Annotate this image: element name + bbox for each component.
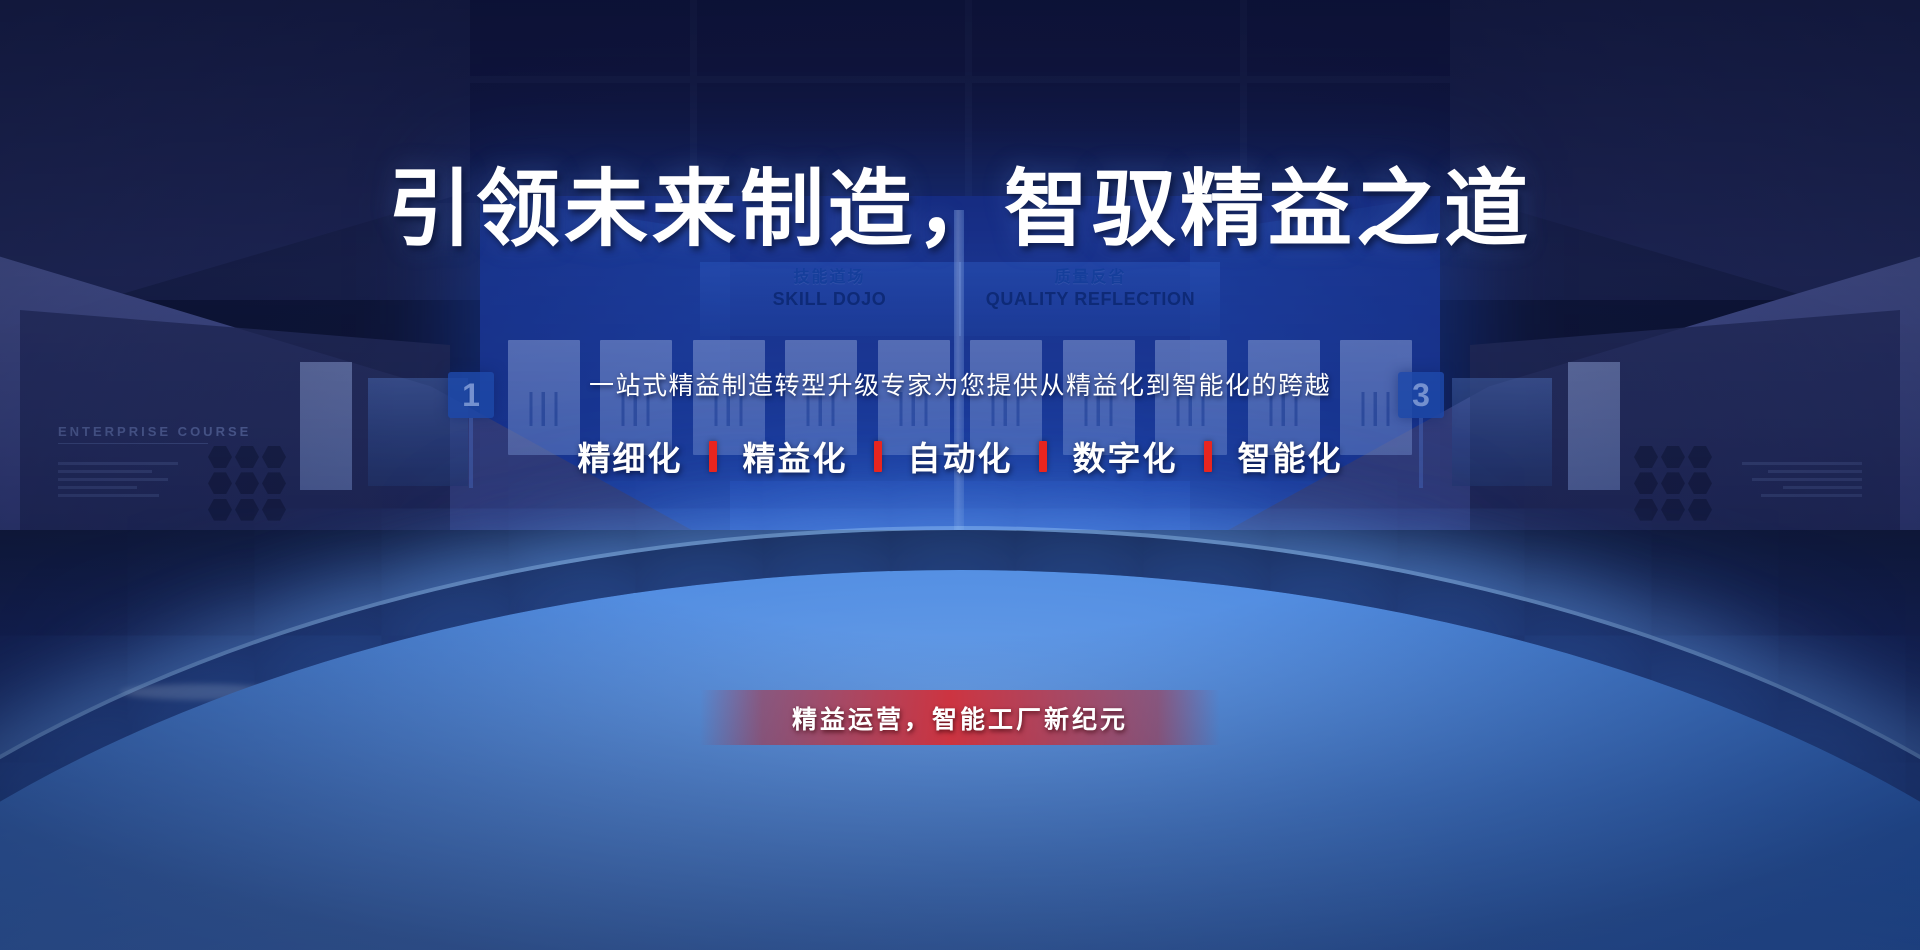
- hero-banner: ENTERPRISE COURSE: [0, 0, 1920, 950]
- keyword-separator-icon: [874, 441, 882, 472]
- keyword-item: 精细化: [562, 432, 699, 480]
- banner-content: 引领未来制造，智驭精益之道 一站式精益制造转型升级专家为您提供从精益化到智能化的…: [0, 0, 1920, 950]
- keyword-item: 数字化: [1057, 432, 1194, 480]
- subheadline-text: 一站式精益制造转型升级专家为您提供从精益化到智能化的跨越: [0, 366, 1920, 402]
- keyword-item: 自动化: [892, 432, 1029, 480]
- keyword-item: 精益化: [727, 432, 864, 480]
- keyword-list: 精细化 精益化 自动化 数字化 智能化: [0, 432, 1920, 480]
- keyword-separator-icon: [1204, 441, 1212, 472]
- ribbon-text: 精益运营，智能工厂新纪元: [792, 700, 1128, 736]
- keyword-separator-icon: [709, 441, 717, 472]
- bottom-ribbon-banner: 精益运营，智能工厂新纪元: [700, 690, 1220, 745]
- keyword-item: 智能化: [1222, 432, 1359, 480]
- keyword-separator-icon: [1039, 441, 1047, 472]
- headline-title: 引领未来制造，智驭精益之道: [0, 142, 1920, 263]
